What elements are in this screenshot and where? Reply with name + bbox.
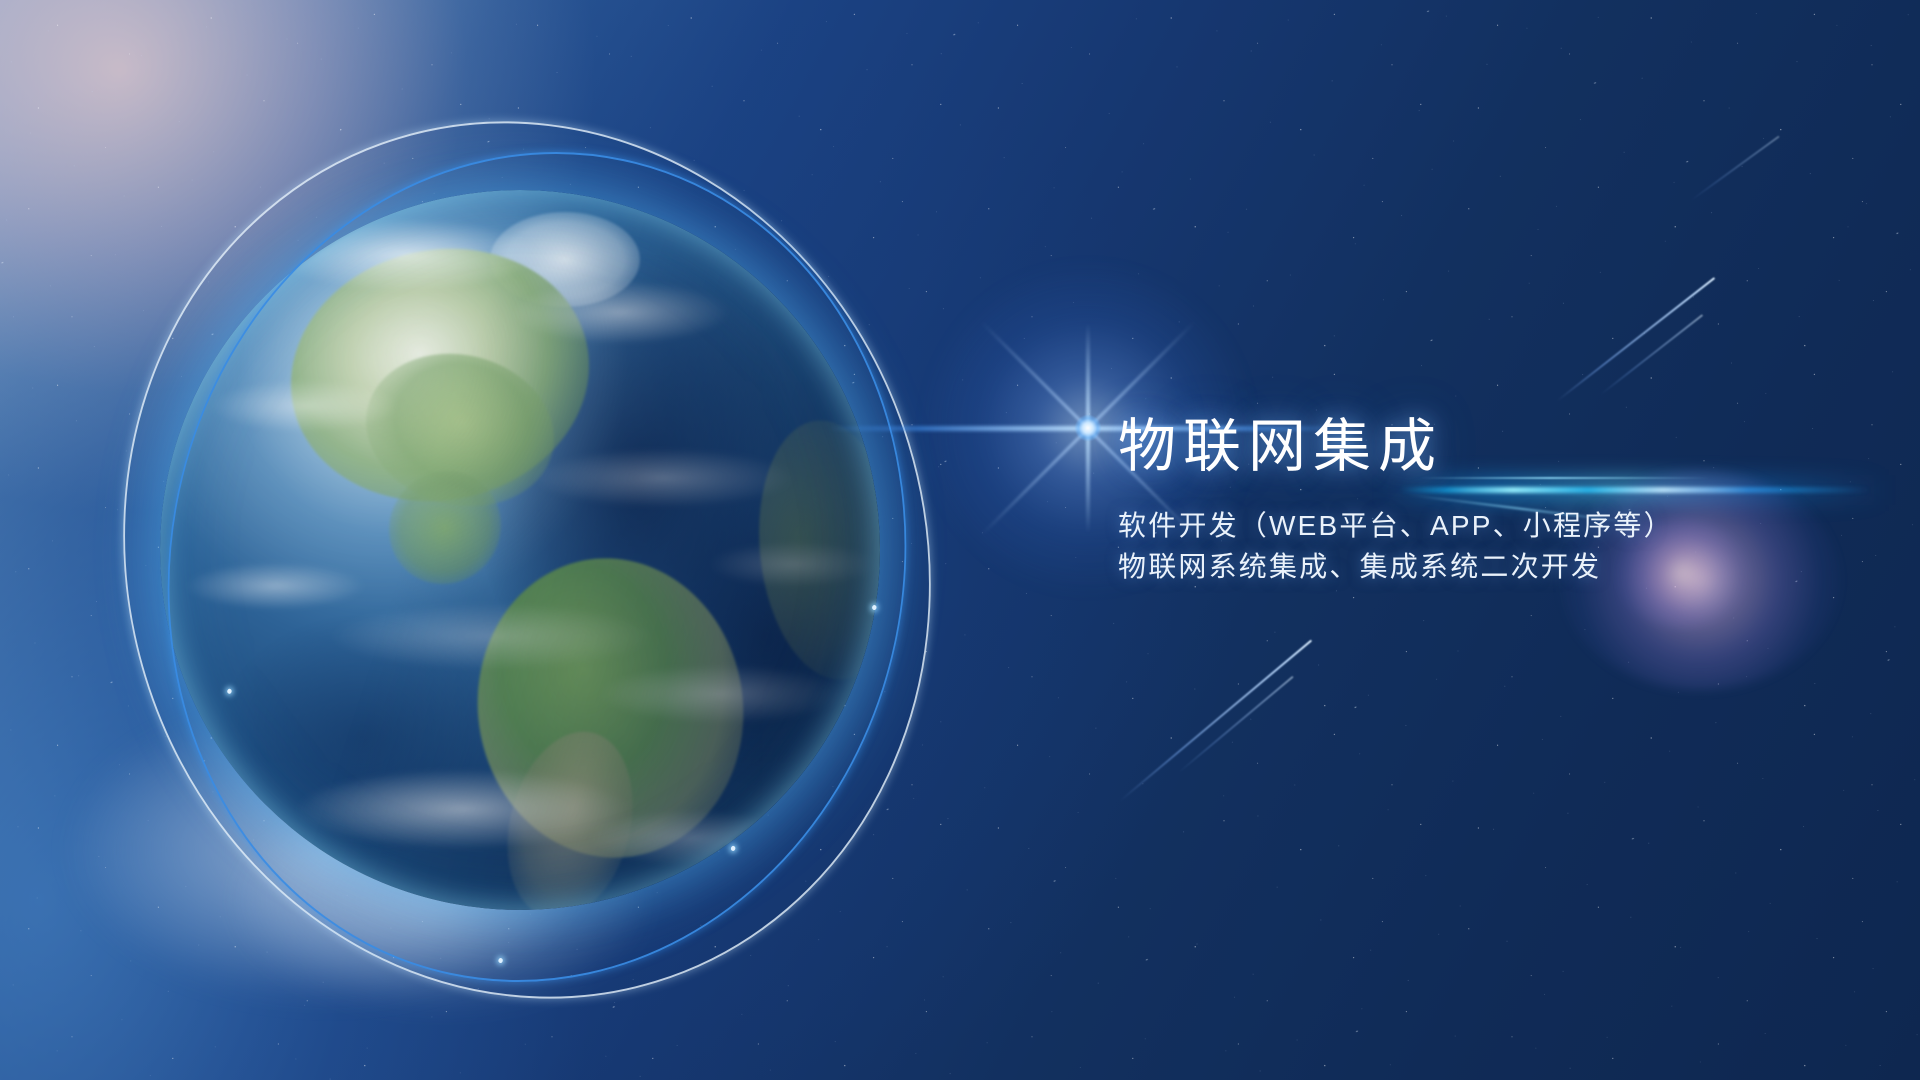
banner-text-block: 物联网集成 软件开发（WEB平台、APP、小程序等） 物联网系统集成、集成系统二… xyxy=(1118,418,1818,588)
earth-globe xyxy=(160,190,880,910)
subtitle-line-1: 软件开发（WEB平台、APP、小程序等） xyxy=(1118,506,1818,547)
meteor-streak-icon xyxy=(1600,314,1703,395)
meteor-streak-icon xyxy=(1556,277,1715,402)
banner-stage: 物联网集成 软件开发（WEB平台、APP、小程序等） 物联网系统集成、集成系统二… xyxy=(0,0,1920,1080)
subtitle-list: 软件开发（WEB平台、APP、小程序等） 物联网系统集成、集成系统二次开发 xyxy=(1118,506,1818,588)
meteor-streak-icon xyxy=(1690,135,1780,201)
flare-vertical-beam xyxy=(1086,323,1090,533)
page-title: 物联网集成 xyxy=(1118,418,1818,476)
globe-sphere xyxy=(160,190,880,910)
meteor-streak-icon xyxy=(1178,676,1294,774)
globe-rim-light xyxy=(160,190,880,910)
meteor-streak-icon xyxy=(1119,640,1312,802)
subtitle-line-2: 物联网系统集成、集成系统二次开发 xyxy=(1118,547,1818,588)
flare-core xyxy=(1075,415,1101,441)
